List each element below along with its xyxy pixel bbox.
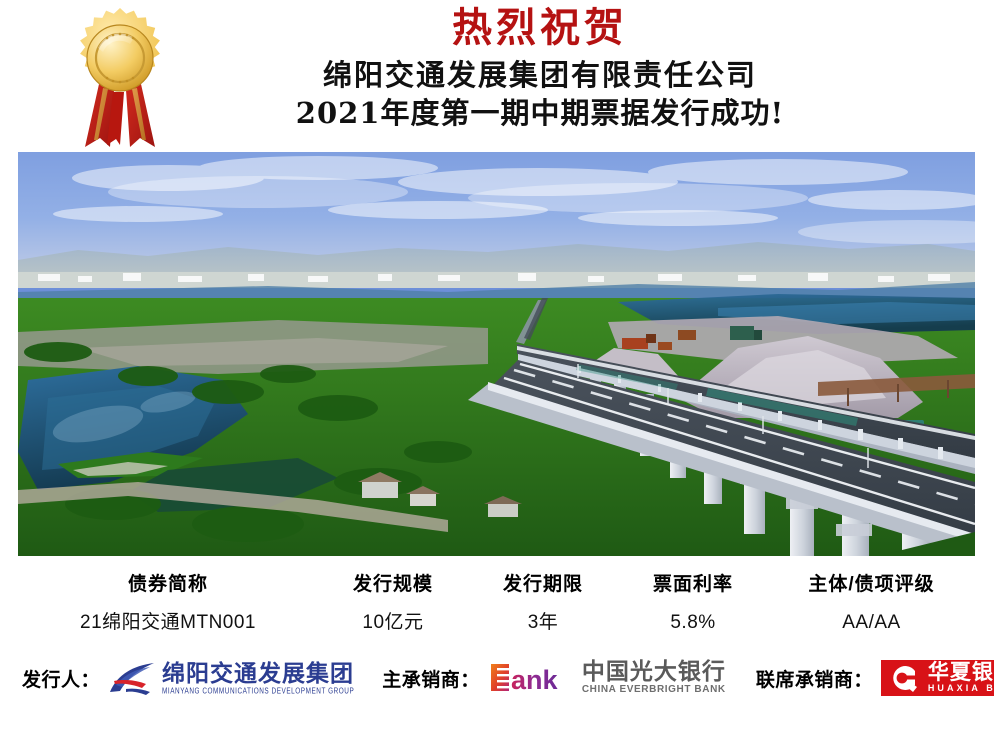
lead-underwriter-group: 主承销商： <box>382 653 726 703</box>
huaxia-emblem-icon <box>887 663 921 693</box>
header-bond-name: 债券简称 <box>18 566 318 604</box>
everbright-wordmark: 中国光大银行 CHINA EVERBRIGHT BANK <box>582 660 726 696</box>
header-credit-rating: 主体/债项评级 <box>768 566 975 604</box>
everbright-name-cn: 中国光大银行 <box>582 660 726 683</box>
everbright-bank-wordmark-icon: ank <box>490 661 576 695</box>
everbright-name-en: CHINA EVERBRIGHT BANK <box>582 683 726 696</box>
value-bond-name: 21绵阳交通MTN001 <box>18 604 318 642</box>
issuance-success-line: 2021年度第一期中期票据发行成功! <box>190 94 890 132</box>
huaxia-name-en: HUAXIA BANK <box>928 683 994 694</box>
lead-underwriter-label: 主承销商： <box>382 665 480 692</box>
header-issue-term: 发行期限 <box>468 566 618 604</box>
value-issue-size: 10亿元 <box>318 604 468 642</box>
mianyang-communications-logo: 绵阳交通发展集团 MIANYANG COMMUNICATIONS DEVELOP… <box>106 659 354 697</box>
issuer-group: 发行人： 绵阳交通发展集团 MIANYANG COMMUNICATIONS DE… <box>22 653 354 703</box>
swoosh-icon <box>106 659 158 697</box>
highway-bridge-photo <box>18 152 975 556</box>
joint-underwriter-group: 联席承销商： 华夏银行 HUAXIA BANK <box>756 653 994 703</box>
poster-header: 热烈祝贺 绵阳交通发展集团有限责任公司 2021年度第一期中期票据发行成功! <box>0 0 994 152</box>
header-coupon-rate: 票面利率 <box>618 566 768 604</box>
huaxia-bank-logo: 华夏银行 HUAXIA BANK <box>881 660 994 696</box>
value-coupon-rate: 5.8% <box>618 604 768 642</box>
issuer-name-en: MIANYANG COMMUNICATIONS DEVELOPMENT GROU… <box>162 686 354 699</box>
table-header-row: 债券简称 发行规模 发行期限 票面利率 主体/债项评级 <box>18 566 975 604</box>
award-medal-icon <box>58 6 182 150</box>
huaxia-name-cn: 华夏银行 <box>928 662 994 683</box>
table-value-row: 21绵阳交通MTN001 10亿元 3年 5.8% AA/AA <box>18 604 975 642</box>
congratulations-title: 热烈祝贺 <box>190 4 890 52</box>
issuer-label: 发行人： <box>22 665 100 692</box>
joint-underwriter-label: 联席承销商： <box>756 665 873 692</box>
svg-text:ank: ank <box>511 665 559 695</box>
china-everbright-bank-logo: ank 中国光大银行 CHINA EVERBRIGHT BANK <box>490 660 726 696</box>
bond-info-table: 债券简称 发行规模 发行期限 票面利率 主体/债项评级 21绵阳交通MTN001… <box>18 566 975 644</box>
congratulation-poster: 热烈祝贺 绵阳交通发展集团有限责任公司 2021年度第一期中期票据发行成功! <box>0 0 994 753</box>
header-text-block: 热烈祝贺 绵阳交通发展集团有限责任公司 2021年度第一期中期票据发行成功! <box>190 4 890 132</box>
value-credit-rating: AA/AA <box>768 604 975 642</box>
issuer-wordmark: 绵阳交通发展集团 MIANYANG COMMUNICATIONS DEVELOP… <box>162 661 354 696</box>
poster-footer: 发行人： 绵阳交通发展集团 MIANYANG COMMUNICATIONS DE… <box>0 650 994 706</box>
huaxia-wordmark: 华夏银行 HUAXIA BANK <box>928 662 994 694</box>
company-name-line: 绵阳交通发展集团有限责任公司 <box>190 56 890 94</box>
header-issue-size: 发行规模 <box>318 566 468 604</box>
value-issue-term: 3年 <box>468 604 618 642</box>
issuer-name-cn: 绵阳交通发展集团 <box>162 660 354 686</box>
